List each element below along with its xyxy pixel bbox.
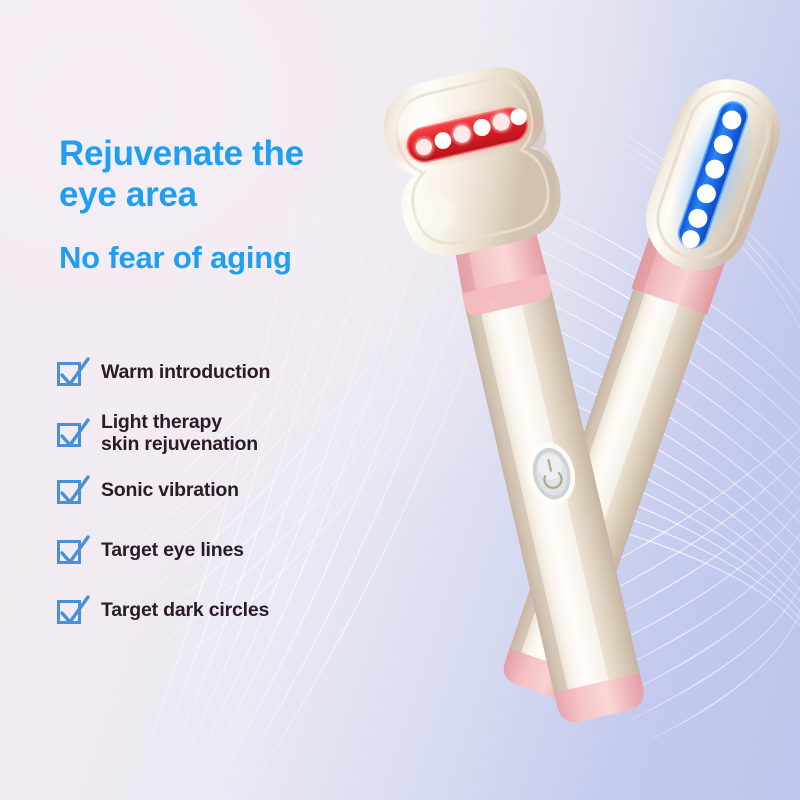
list-item: Target dark circles: [57, 590, 387, 632]
advertisement-canvas: Rejuvenate the eye area No fear of aging…: [0, 0, 800, 800]
checkbox-checked-icon: [57, 536, 87, 566]
list-item: Light therapy skin rejuvenation: [57, 412, 387, 456]
feature-label: Warm introduction: [101, 362, 270, 384]
list-item: Target eye lines: [57, 530, 387, 572]
page-title: Rejuvenate the eye area: [59, 134, 389, 215]
feature-label: Light therapy skin rejuvenation: [101, 412, 258, 456]
list-item: Sonic vibration: [57, 470, 387, 512]
checkbox-checked-icon: [57, 596, 87, 626]
feature-list: Warm introduction Light therapy skin rej…: [57, 352, 387, 650]
list-item: Warm introduction: [57, 352, 387, 394]
checkbox-checked-icon: [57, 476, 87, 506]
checkbox-checked-icon: [57, 358, 87, 388]
feature-label: Target eye lines: [101, 540, 244, 562]
feature-label: Sonic vibration: [101, 480, 239, 502]
checkbox-checked-icon: [57, 419, 87, 449]
page-subtitle: No fear of aging: [59, 240, 292, 276]
feature-label: Target dark circles: [101, 600, 269, 622]
